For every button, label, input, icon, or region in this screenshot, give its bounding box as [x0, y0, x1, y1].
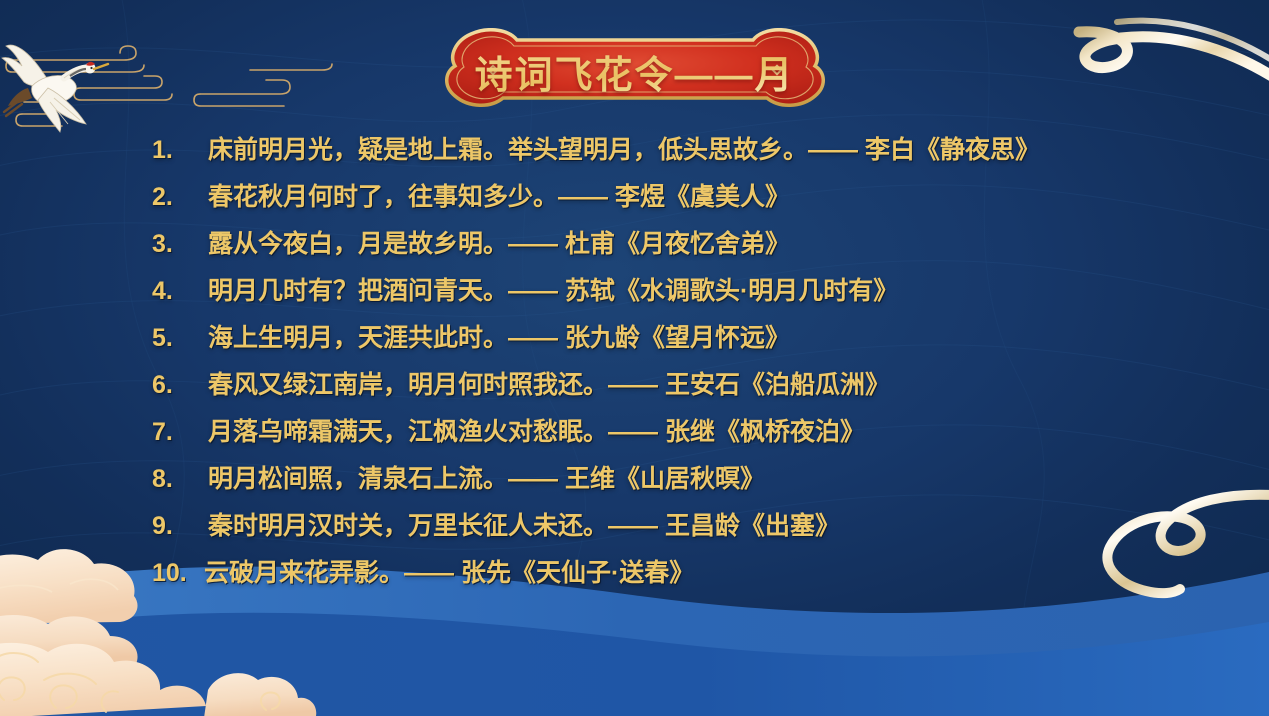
list-item-number: 8. — [152, 465, 208, 494]
list-item: 6. 春风又绿江南岸，明月何时照我还。—— 王安石《泊船瓜洲》 — [152, 371, 1152, 418]
list-item: 2. 春花秋月何时了，往事知多少。—— 李煜《虞美人》 — [152, 183, 1152, 230]
page-title: 诗词飞花令——月 — [385, 28, 885, 116]
list-item: 5. 海上生明月，天涯共此时。—— 张九龄《望月怀远》 — [152, 324, 1152, 371]
poem-list: 1. 床前明月光，疑是地上霜。举头望明月，低头思故乡。—— 李白《静夜思》 2.… — [152, 136, 1152, 606]
list-item: 8. 明月松间照，清泉石上流。—— 王维《山居秋暝》 — [152, 465, 1152, 512]
crane-icon — [0, 28, 118, 138]
list-item-text: 云破月来花弄影。—— 张先《天仙子·送春》 — [204, 561, 694, 586]
ribbon-top-right-icon — [975, 0, 1269, 132]
list-item: 9. 秦时明月汉时关，万里长征人未还。—— 王昌龄《出塞》 — [152, 512, 1152, 559]
list-item-text: 床前明月光，疑是地上霜。举头望明月，低头思故乡。—— 李白《静夜思》 — [208, 138, 1040, 163]
list-item-number: 10. — [152, 559, 204, 588]
list-item-number: 5. — [152, 324, 208, 353]
list-item-text: 明月几时有？把酒问青天。—— 苏轼《水调歌头·明月几时有》 — [208, 279, 898, 304]
list-item-number: 4. — [152, 277, 208, 306]
list-item-text: 海上生明月，天涯共此时。—— 张九龄《望月怀远》 — [208, 326, 790, 351]
list-item: 10. 云破月来花弄影。—— 张先《天仙子·送春》 — [152, 559, 1152, 606]
list-item-text: 明月松间照，清泉石上流。—— 王维《山居秋暝》 — [208, 467, 765, 492]
list-item-text: 秦时明月汉时关，万里长征人未还。—— 王昌龄《出塞》 — [208, 514, 840, 539]
list-item-text: 春风又绿江南岸，明月何时照我还。—— 王安石《泊船瓜洲》 — [208, 373, 890, 398]
list-item: 7. 月落乌啼霜满天，江枫渔火对愁眠。—— 张继《枫桥夜泊》 — [152, 418, 1152, 465]
list-item: 3. 露从今夜白，月是故乡明。—— 杜甫《月夜忆舍弟》 — [152, 230, 1152, 277]
list-item-number: 9. — [152, 512, 208, 541]
gold-cloud-lines-icon — [4, 26, 334, 141]
list-item-text: 春花秋月何时了，往事知多少。—— 李煜《虞美人》 — [208, 185, 790, 210]
list-item-number: 1. — [152, 136, 208, 165]
slide-root: 诗词飞花令——月 1. 床前明月光，疑是地上霜。举头望明月，低头思故乡。—— 李… — [0, 0, 1269, 716]
list-item-number: 6. — [152, 371, 208, 400]
list-item: 1. 床前明月光，疑是地上霜。举头望明月，低头思故乡。—— 李白《静夜思》 — [152, 136, 1152, 183]
title-banner: 诗词飞花令——月 — [385, 28, 885, 116]
list-item: 4. 明月几时有？把酒问青天。—— 苏轼《水调歌头·明月几时有》 — [152, 277, 1152, 324]
list-item-number: 7. — [152, 418, 208, 447]
list-item-number: 3. — [152, 230, 208, 259]
list-item-number: 2. — [152, 183, 208, 212]
list-item-text: 露从今夜白，月是故乡明。—— 杜甫《月夜忆舍弟》 — [208, 232, 790, 257]
list-item-text: 月落乌啼霜满天，江枫渔火对愁眠。—— 张继《枫桥夜泊》 — [208, 420, 865, 445]
